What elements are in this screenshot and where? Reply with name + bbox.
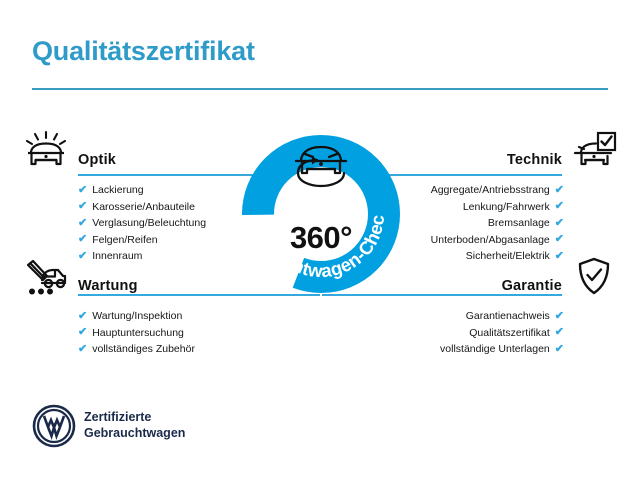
list-item-label: Lackierung (92, 182, 143, 199)
list-item-label: Garantienachweis (466, 308, 550, 325)
check-icon: ✔ (555, 185, 564, 196)
page-title: Qualitätszertifikat (32, 36, 255, 67)
check-list-garantie: Garantienachweis✔ Qualitätszertifikat✔ v… (368, 300, 618, 358)
car-checkbox-icon (570, 130, 618, 172)
list-item-label: vollständige Unterlagen (440, 341, 550, 358)
check-icon: ✔ (78, 344, 87, 355)
badge-degrees-label: 360° (231, 220, 411, 256)
volkswagen-logo (32, 404, 76, 448)
section-title-technik: Technik (507, 152, 562, 168)
list-item-label: vollständiges Zubehör (92, 341, 195, 358)
check-icon: ✔ (78, 218, 87, 229)
shield-check-icon (570, 256, 618, 298)
check-icon: ✔ (555, 218, 564, 229)
check-icon: ✔ (555, 234, 564, 245)
list-item: Qualitätszertifikat✔ (368, 325, 618, 342)
list-item-label: Aggregate/Antriebsstrang (431, 182, 550, 199)
check-icon: ✔ (555, 201, 564, 212)
check-icon: ✔ (78, 311, 87, 322)
check-icon: ✔ (78, 234, 87, 245)
list-item: ✔vollständiges Zubehör (22, 341, 272, 358)
list-item-label: Wartung/Inspektion (92, 308, 182, 325)
list-item: ✔Hauptuntersuchung (22, 325, 272, 342)
car-shine-icon (22, 130, 70, 172)
check-icon: ✔ (78, 185, 87, 196)
list-item-label: Lenkung/Fahrwerk (463, 199, 550, 216)
check-icon: ✔ (78, 327, 87, 338)
check-list-wartung: ✔Wartung/Inspektion ✔Hauptuntersuchung ✔… (22, 300, 272, 358)
list-item: Garantienachweis✔ (368, 308, 618, 325)
list-item-label: Hauptuntersuchung (92, 325, 184, 342)
section-title-wartung: Wartung (78, 278, 138, 294)
section-title-optik: Optik (78, 152, 116, 168)
check-icon: ✔ (78, 201, 87, 212)
check-icon: ✔ (555, 311, 564, 322)
footer-line-2: Gebrauchtwagen (84, 425, 185, 441)
check-icon: ✔ (555, 344, 564, 355)
list-item-label: Qualitätszertifikat (469, 325, 550, 342)
list-item-label: Unterboden/Abgasanlage (431, 232, 550, 249)
list-item-label: Karosserie/Anbauteile (92, 199, 195, 216)
list-item-label: Verglasung/Beleuchtung (92, 215, 206, 232)
header-divider (32, 88, 608, 90)
certificate-sheet: Qualitätszertifikat (0, 0, 640, 480)
check-icon: ✔ (555, 327, 564, 338)
list-item-label: Felgen/Reifen (92, 232, 157, 249)
footer-line-1: Zertifizierte (84, 409, 185, 425)
footer-brand-text: Zertifizierte Gebrauchtwagen (84, 409, 185, 441)
list-item: ✔Wartung/Inspektion (22, 308, 272, 325)
wrench-car-service-icon (22, 256, 70, 298)
badge-360-gebrauchtwagen-check: Gebrauchtwagen-Check 360° (231, 122, 411, 304)
list-item: vollständige Unterlagen✔ (368, 341, 618, 358)
section-title-garantie: Garantie (502, 278, 562, 294)
list-item-label: Bremsanlage (488, 215, 550, 232)
